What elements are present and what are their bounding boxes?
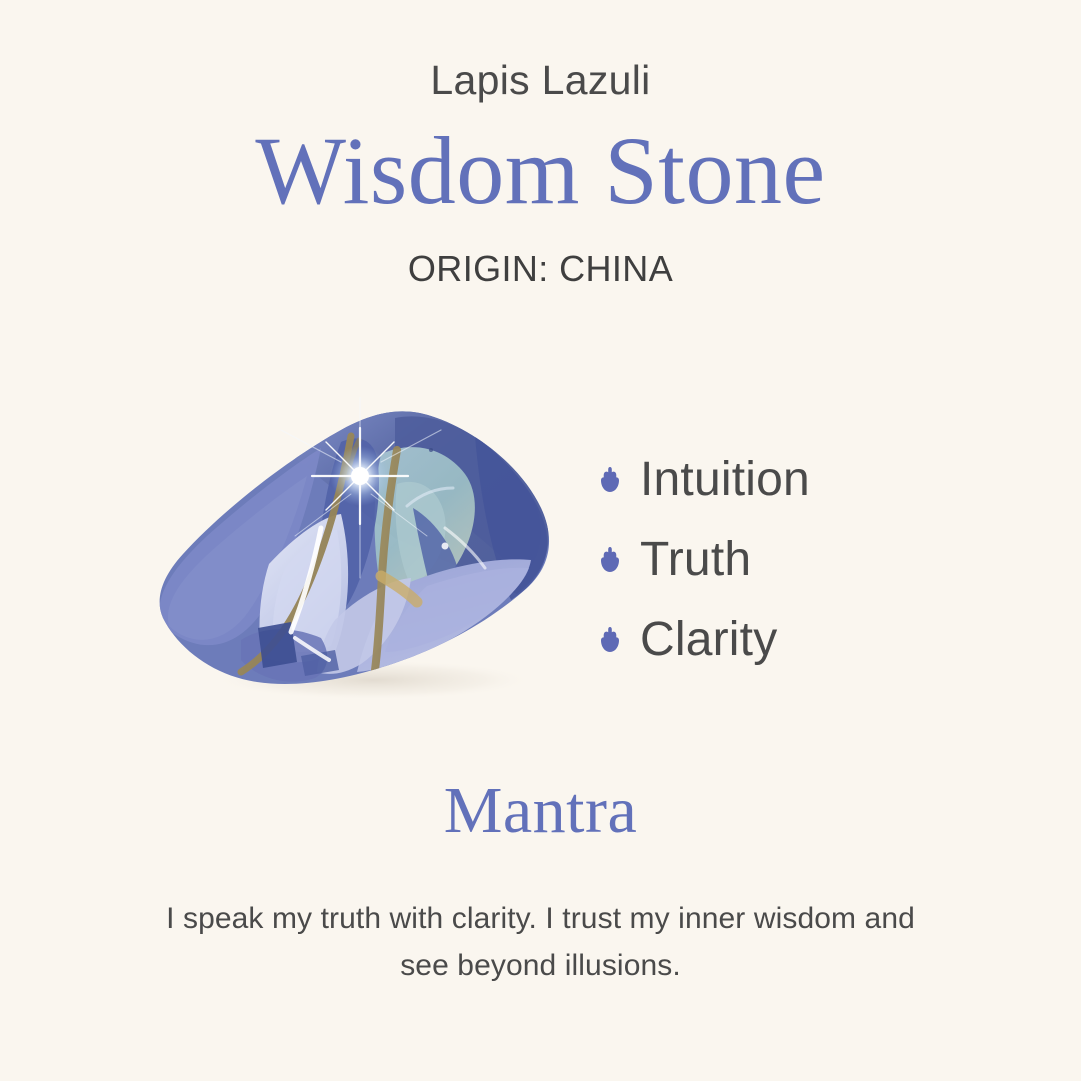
mantra-section: Mantra I speak my truth with clarity. I … <box>0 778 1081 989</box>
hamsa-bullet-icon <box>600 466 620 494</box>
stone-name-eyebrow: Lapis Lazuli <box>0 60 1081 101</box>
gemstone-illustration <box>145 388 565 708</box>
list-item: Intuition <box>600 440 1020 520</box>
attribute-label: Intuition <box>640 456 810 504</box>
list-item: Clarity <box>600 600 1020 680</box>
page-title: Wisdom Stone <box>0 123 1081 219</box>
list-item: Truth <box>600 520 1020 600</box>
stone-body <box>145 388 565 708</box>
mantra-heading: Mantra <box>0 778 1081 844</box>
mantra-body-text: I speak my truth with clarity. I trust m… <box>161 896 921 989</box>
card-header: Lapis Lazuli Wisdom Stone ORIGIN: CHINA <box>0 0 1081 287</box>
attribute-label: Truth <box>640 536 751 584</box>
origin-label: ORIGIN: CHINA <box>0 251 1081 287</box>
hamsa-bullet-icon <box>600 626 620 654</box>
stone-info-card: Lapis Lazuli Wisdom Stone ORIGIN: CHINA <box>0 0 1081 1081</box>
attributes-list: Intuition Truth Clarity <box>600 440 1020 680</box>
attribute-label: Clarity <box>640 616 777 664</box>
hamsa-bullet-icon <box>600 546 620 574</box>
gemstone-icon <box>145 388 565 708</box>
